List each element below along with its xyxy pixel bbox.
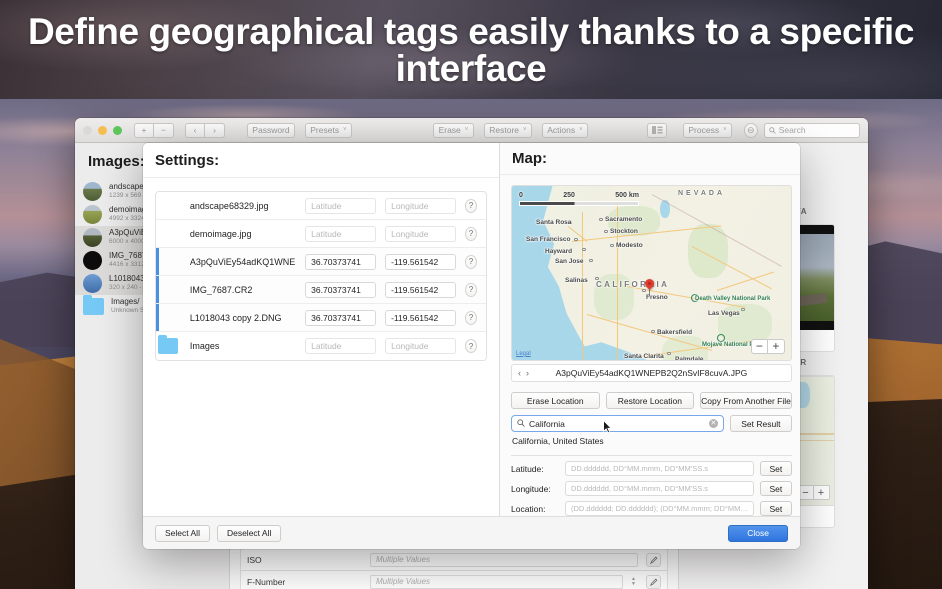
chevron-down-icon: ˅	[523, 127, 527, 133]
city-dot	[574, 238, 578, 242]
latitude-field[interactable]: Latitude	[305, 198, 376, 214]
latitude-field[interactable]: Latitude	[305, 226, 376, 242]
restore-location-button[interactable]: Restore Location	[606, 392, 695, 409]
metadata-value-input[interactable]: Multiple Values	[370, 553, 638, 567]
thumbnail	[83, 274, 102, 293]
folder-icon	[158, 338, 178, 354]
search-icon	[769, 127, 776, 134]
city-dot	[651, 330, 655, 334]
settings-title: Settings:	[143, 143, 499, 178]
city-dot	[642, 289, 646, 293]
latitude-field[interactable]: 36.70373741	[305, 310, 376, 326]
longitude-label: Longitude:	[511, 484, 559, 494]
table-row[interactable]: demoimage.jpg Latitude Longitude ?	[156, 220, 486, 248]
nav-forward-button[interactable]: ›	[205, 123, 225, 138]
city-label-sacramento: Sacramento	[605, 216, 642, 223]
city-label-las-vegas: Las Vegas	[708, 310, 740, 317]
row-filename: IMG_7687.CR2	[190, 285, 296, 295]
presets-label: Presets	[310, 126, 339, 135]
scale-bar-graphic	[519, 201, 639, 206]
location-search-value: California	[529, 419, 705, 429]
next-file-icon[interactable]: ›	[526, 368, 529, 378]
metadata-label: F-Number	[247, 577, 362, 587]
settings-column: Settings: andscape68329.jpg Latitude Lon…	[143, 143, 500, 516]
value-stepper[interactable]: ▲ ▼	[631, 577, 636, 587]
location-row: Location: (DD.dddddd; DD.dddddd); (DD°MM…	[511, 501, 792, 516]
zoom-out-icon[interactable]: −	[799, 486, 814, 499]
table-row[interactable]: A3pQuViEy54adKQ1WNE… 36.70373741 -119.56…	[156, 248, 486, 276]
location-search-row: California ✕ Set Result	[511, 415, 792, 432]
latitude-field[interactable]: 36.70373741	[305, 282, 376, 298]
minimize-window-button[interactable]	[98, 126, 107, 135]
close-window-button[interactable]	[83, 126, 92, 135]
nav-back-button[interactable]: ‹	[185, 123, 205, 138]
latitude-row: Latitude: DD.dddddd, DD°MM.mmm, DD°MM'SS…	[511, 461, 792, 476]
city-label-santa-clarita: Santa Clarita	[624, 353, 664, 360]
list-view-icon[interactable]	[647, 123, 667, 138]
map-zoom-controls[interactable]: − +	[751, 339, 785, 354]
thumbnail	[83, 205, 102, 224]
thumbnail	[83, 228, 102, 247]
window-controls[interactable]	[83, 126, 122, 135]
thumbnail	[159, 309, 177, 327]
interactive-map[interactable]: 0 250 500 km Santa Rosa Sacramento San F…	[511, 185, 792, 361]
set-longitude-button[interactable]: Set	[760, 481, 792, 496]
search-glyph	[517, 419, 525, 427]
file-nav-arrows[interactable]: ‹ ›	[518, 368, 529, 378]
longitude-field[interactable]: Longitude	[385, 338, 456, 354]
table-row[interactable]: IMG_7687.CR2 36.70373741 -119.561542 ?	[156, 276, 486, 304]
maximize-window-button[interactable]	[113, 126, 122, 135]
city-label-san-francisco: San Francisco	[526, 236, 570, 243]
thumbnail	[159, 281, 177, 299]
latitude-field[interactable]: 36.70373741	[305, 254, 376, 270]
clear-icon[interactable]: ✕	[709, 419, 718, 428]
restore-button[interactable]: Restore ˅	[484, 123, 532, 138]
chevron-down-icon: ˅	[723, 127, 727, 133]
longitude-input[interactable]: DD.dddddd, DD°MM.mmm, DD°MM'SS.s	[565, 481, 754, 496]
current-filename: A3pQuViEy54adKQ1WNEPB2Q2nSvIF8cuvA.JPG	[512, 368, 791, 378]
row-filename: Images	[190, 341, 296, 351]
navigation-segment[interactable]: ‹ ›	[185, 123, 225, 138]
city-dot	[604, 230, 608, 234]
city-label-salinas: Salinas	[565, 277, 588, 284]
header-banner: Define geographical tags easily thanks t…	[0, 0, 942, 99]
longitude-field[interactable]: Longitude	[385, 226, 456, 242]
help-icon[interactable]: ?	[465, 199, 477, 213]
location-label: Location:	[511, 504, 559, 514]
park-marker	[717, 334, 725, 342]
park-label-death-valley: Death Valley National Park	[695, 296, 770, 303]
city-dot	[582, 248, 586, 252]
help-icon[interactable]: ?	[465, 311, 477, 325]
table-row[interactable]: Images Latitude Longitude ?	[156, 332, 486, 360]
city-dot	[599, 218, 603, 222]
file-navigator: ‹ › A3pQuViEy54adKQ1WNEPB2Q2nSvIF8cuvA.J…	[511, 364, 792, 382]
city-dot	[667, 352, 671, 356]
row-filename: L1018043 copy 2.DNG	[190, 313, 296, 323]
banner-title: Define geographical tags easily thanks t…	[0, 0, 942, 87]
city-label-san-jose: San Jose	[555, 258, 584, 265]
divider	[511, 455, 792, 456]
chevron-down-icon: ˅	[343, 127, 347, 133]
map-column: Map:	[500, 143, 800, 516]
state-label-nevada: NEVADA	[678, 190, 725, 197]
latitude-label: Latitude:	[511, 464, 559, 474]
search-placeholder-text: Search	[779, 125, 806, 135]
add-remove-segment[interactable]: + −	[134, 123, 174, 138]
location-search-input[interactable]: California ✕	[511, 415, 724, 432]
latitude-field[interactable]: Latitude	[305, 338, 376, 354]
password-button[interactable]: Password	[247, 123, 295, 138]
folder-icon	[83, 298, 104, 315]
longitude-field[interactable]: -119.561542	[385, 282, 456, 298]
map-legal-link[interactable]: Legal	[516, 351, 531, 357]
longitude-field[interactable]: Longitude	[385, 198, 456, 214]
set-location-button[interactable]: Set	[760, 501, 792, 516]
gps-location-dialog: Settings: andscape68329.jpg Latitude Lon…	[143, 143, 800, 549]
table-row[interactable]: andscape68329.jpg Latitude Longitude ?	[156, 192, 486, 220]
zoom-in-icon[interactable]: +	[814, 486, 829, 499]
city-label-palmdale: Palmdale	[675, 356, 704, 361]
location-input[interactable]: (DD.dddddd; DD.dddddd); (DD°MM.mmm; DD°M…	[565, 501, 754, 516]
close-button[interactable]: Close	[728, 525, 788, 542]
list-view-glyph	[652, 126, 663, 134]
stepper-down-icon[interactable]: ▼	[631, 582, 636, 587]
metadata-row-iso[interactable]: ISO Multiple Values	[240, 548, 668, 570]
city-label-hayward: Hayward	[545, 248, 572, 255]
process-button[interactable]: Process ˅	[683, 123, 732, 138]
location-actions-row: Erase Location Restore Location Copy Fro…	[511, 392, 792, 409]
process-label: Process	[688, 126, 719, 135]
erase-button[interactable]: Erase ˅	[433, 123, 474, 138]
dialog-footer: Select All Deselect All Close	[143, 516, 800, 549]
city-label-bakersfield: Bakersfield	[657, 329, 692, 336]
city-label-santa-rosa: Santa Rosa	[536, 219, 571, 226]
state-label-california: CALIFORNIA	[596, 280, 669, 289]
thumbnail	[83, 182, 102, 201]
dialog-columns: Settings: andscape68329.jpg Latitude Lon…	[143, 143, 800, 516]
search-icon	[517, 419, 525, 429]
help-icon[interactable]: ?	[465, 283, 477, 297]
add-button[interactable]: +	[134, 123, 154, 138]
map-title: Map:	[500, 143, 800, 175]
map-scale-bar: 0 250 500 km	[519, 192, 639, 206]
actions-button[interactable]: Actions ˅	[542, 123, 588, 138]
presets-button[interactable]: Presets ˅	[305, 123, 352, 138]
erase-label: Erase	[439, 126, 461, 135]
longitude-field[interactable]: -119.561542	[385, 254, 456, 270]
city-dot	[741, 308, 745, 312]
thumbnail	[159, 197, 177, 215]
window-toolbar: + − ‹ › Password Presets ˅ Erase ˅ Resto…	[75, 118, 868, 143]
help-icon[interactable]: ?	[465, 255, 477, 269]
help-icon[interactable]: ?	[465, 227, 477, 241]
select-all-button[interactable]: Select All	[155, 525, 210, 542]
pencil-glyph	[650, 556, 658, 564]
search-result-text: California, United States	[512, 436, 792, 446]
row-filename: A3pQuViEy54adKQ1WNE…	[190, 257, 296, 267]
longitude-row: Longitude: DD.dddddd, DD°MM.mmm, DD°MM'S…	[511, 481, 792, 496]
row-filename: demoimage.jpg	[190, 229, 296, 239]
metadata-row-fnumber[interactable]: F-Number Multiple Values ▲ ▼	[240, 570, 668, 589]
copy-from-another-file-button[interactable]: Copy From Another File	[700, 392, 792, 409]
table-row[interactable]: L1018043 copy 2.DNG 36.70373741 -119.561…	[156, 304, 486, 332]
edit-pencil-icon[interactable]	[646, 553, 661, 567]
scale-tick-2: 500 km	[615, 192, 639, 199]
row-filename: andscape68329.jpg	[190, 201, 296, 211]
edit-pencil-icon[interactable]	[646, 575, 661, 589]
erase-location-button[interactable]: Erase Location	[511, 392, 600, 409]
help-icon[interactable]: ?	[465, 339, 477, 353]
remove-button[interactable]: −	[154, 123, 174, 138]
deselect-all-button[interactable]: Deselect All	[217, 525, 281, 542]
city-dot	[670, 360, 674, 361]
city-label-stockton: Stockton	[610, 228, 638, 235]
set-latitude-button[interactable]: Set	[760, 461, 792, 476]
map-ocean	[512, 186, 590, 361]
scale-tick-1: 250	[563, 192, 575, 199]
minus-circle-icon[interactable]: ⊖	[744, 123, 758, 138]
latitude-input[interactable]: DD.dddddd, DD°MM.mmm, DD°MM'SS.s	[565, 461, 754, 476]
longitude-field[interactable]: -119.561542	[385, 310, 456, 326]
set-result-button[interactable]: Set Result	[730, 415, 792, 432]
map-preview-zoom-controls[interactable]: − +	[798, 485, 830, 500]
actions-label: Actions	[547, 126, 575, 135]
scale-tick-0: 0	[519, 192, 523, 199]
map-highway	[582, 212, 583, 361]
metadata-value-input[interactable]: Multiple Values	[370, 575, 623, 589]
metadata-label: ISO	[247, 555, 362, 565]
restore-label: Restore	[489, 126, 519, 135]
search-input[interactable]: Search	[764, 123, 860, 138]
city-dot	[589, 259, 593, 263]
prev-file-icon[interactable]: ‹	[518, 368, 521, 378]
chevron-down-icon: ˅	[465, 127, 469, 133]
settings-file-list: andscape68329.jpg Latitude Longitude ? d…	[155, 191, 487, 361]
zoom-in-icon[interactable]: +	[768, 340, 784, 353]
city-dot	[610, 244, 614, 248]
city-label-modesto: Modesto	[616, 242, 643, 249]
zoom-out-icon[interactable]: −	[752, 340, 768, 353]
thumbnail	[159, 253, 177, 271]
pencil-glyph	[650, 578, 658, 586]
chevron-down-icon: ˅	[579, 127, 583, 133]
thumbnail	[159, 225, 177, 243]
thumbnail	[83, 251, 102, 270]
